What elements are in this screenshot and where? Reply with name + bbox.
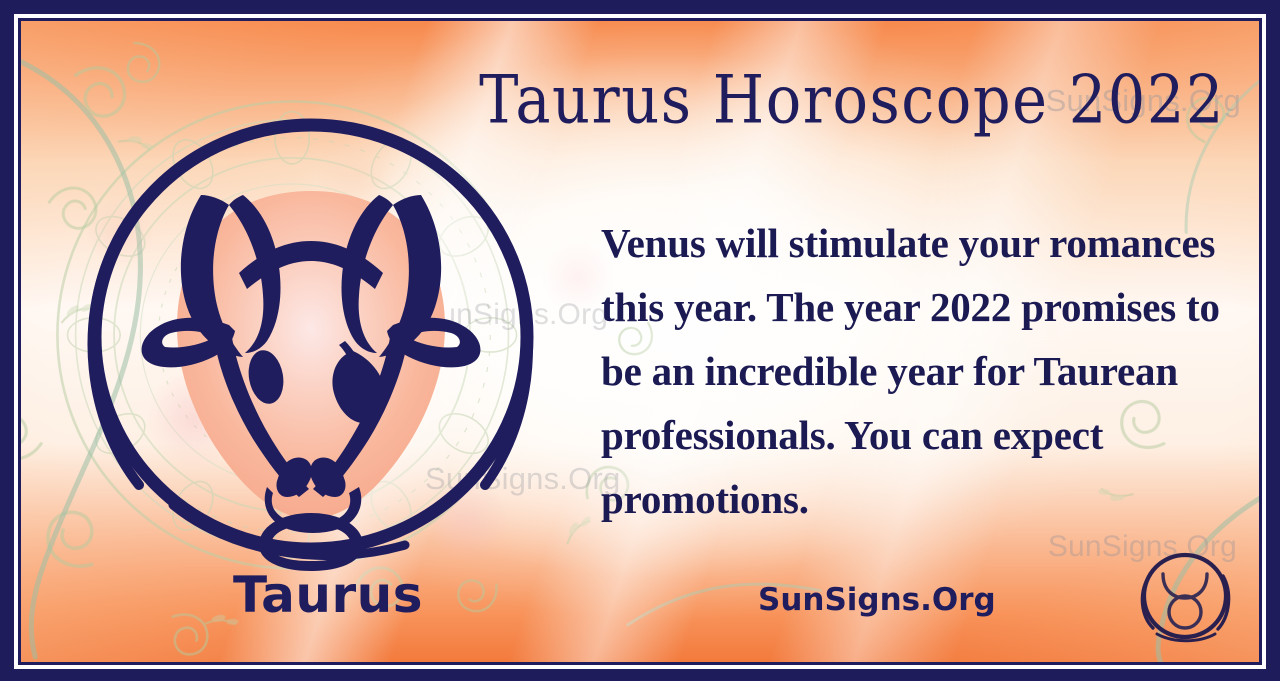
banner-frame: SunSigns.Org SunSigns.Org SunSigns.Org S… (0, 0, 1280, 681)
taurus-symbol-icon (1133, 544, 1237, 648)
page-title: Taurus Horoscope 2022 (447, 61, 1257, 138)
horoscope-body-text: Venus will stimulate your romances this … (601, 211, 1221, 531)
frame-white-gap: SunSigns.Org SunSigns.Org SunSigns.Org S… (14, 14, 1266, 669)
zodiac-sign-name: Taurus (233, 566, 423, 624)
banner-canvas: SunSigns.Org SunSigns.Org SunSigns.Org S… (21, 21, 1259, 662)
brand-label: SunSigns.Org (758, 582, 996, 618)
frame-inner-rule: SunSigns.Org SunSigns.Org SunSigns.Org S… (18, 18, 1262, 665)
taurus-bull-emblem (53, 99, 569, 571)
